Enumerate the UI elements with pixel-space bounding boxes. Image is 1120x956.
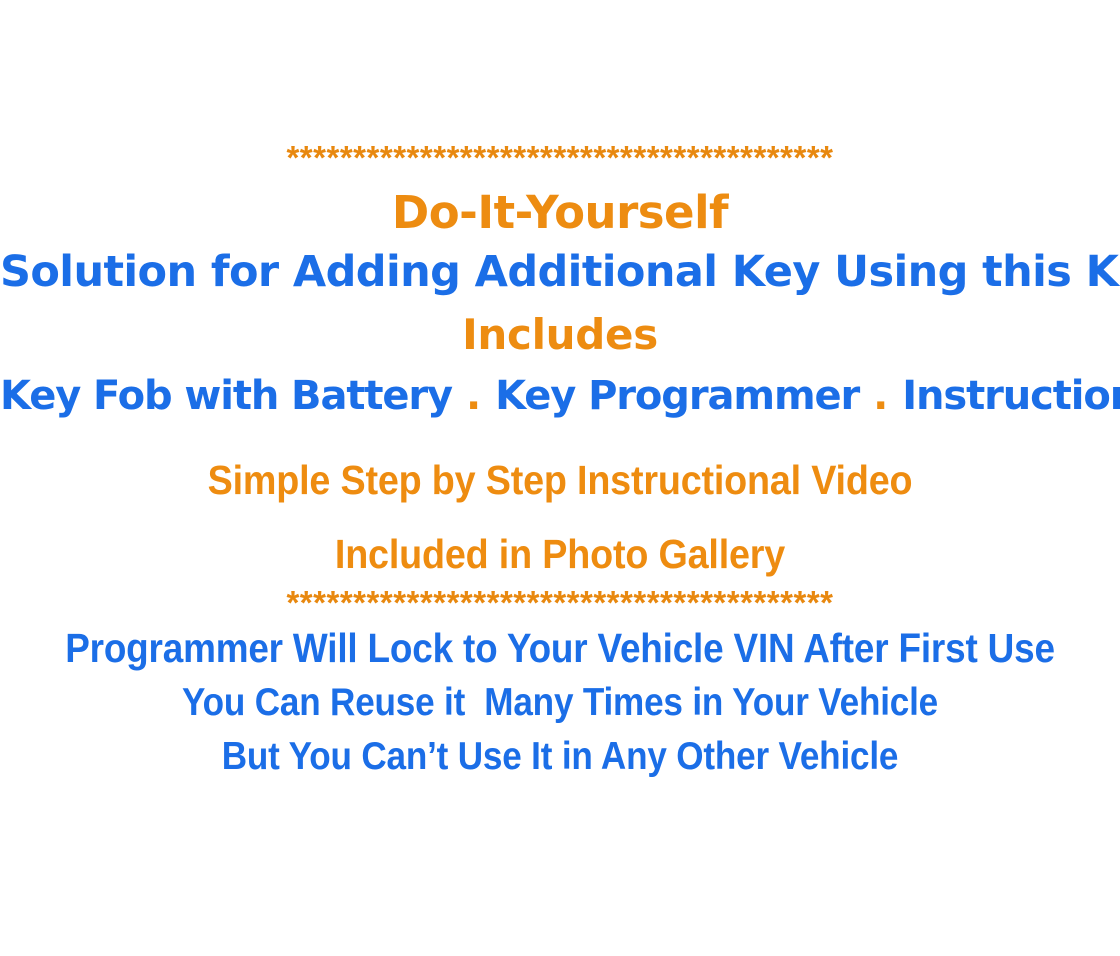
kit-content-separator-1: . [452,373,495,419]
kit-content-item-instructions-manual: Instructions Manual [902,373,1120,419]
promo-banner: ****************************************… [0,0,1120,956]
kit-content-item-key-fob: Key Fob with Battery [0,373,452,419]
asterisk-divider-bottom: ****************************************… [0,586,1120,619]
disclaimer-line-reuse: You Can Reuse it Many Times in Your Vehi… [56,683,1064,722]
headline-do-it-yourself: Do-It-Yourself [0,190,1120,235]
disclaimer-line-vin-lock: Programmer Will Lock to Your Vehicle VIN… [56,628,1064,669]
kit-content-item-key-programmer: Key Programmer [495,373,859,419]
disclaimer-line-other-vehicle: But You Can’t Use It in Any Other Vehicl… [56,737,1064,776]
photo-gallery-line: Included in Photo Gallery [45,534,1075,575]
kit-contents-line: Key Fob with Battery . Key Programmer . … [0,376,1120,416]
asterisk-divider-top: ****************************************… [0,141,1120,174]
instructional-video-line: Simple Step by Step Instructional Video [45,460,1075,501]
includes-label: Includes [0,314,1120,356]
kit-content-separator-2: . [859,373,902,419]
subtitle-solution: Solution for Adding Additional Key Using… [0,251,1120,294]
